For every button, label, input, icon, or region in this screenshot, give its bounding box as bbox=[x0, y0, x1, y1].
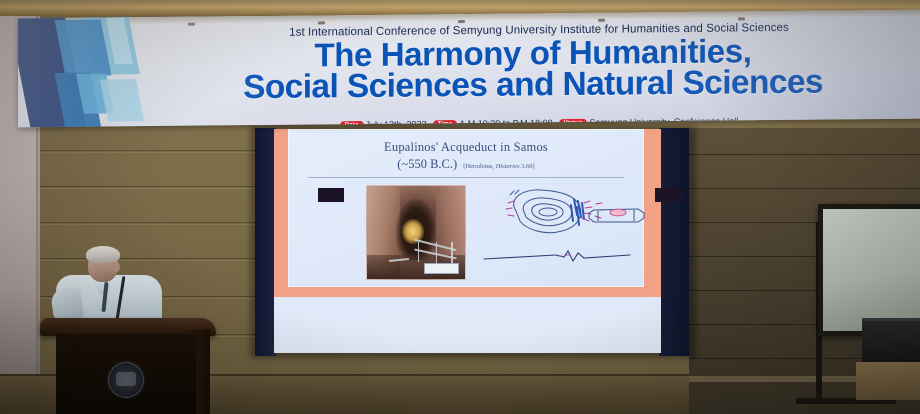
lecture-hall-photo: Eupalinos' Acqueduct in Samos (~550 B.C.… bbox=[0, 0, 920, 414]
speaker-hair bbox=[86, 246, 120, 263]
banner-title-line2: Social Sciences and Natural Sciences bbox=[138, 66, 920, 106]
av-cart-shelf bbox=[856, 362, 920, 400]
projection-screen: Eupalinos' Acqueduct in Samos (~550 B.C.… bbox=[274, 129, 661, 353]
presentation-slide: Eupalinos' Acqueduct in Samos (~550 B.C.… bbox=[288, 129, 644, 287]
slide-citation: [Herodotus, Histories 3.60] bbox=[463, 163, 535, 170]
speaker-ear bbox=[113, 262, 120, 272]
tunnel-photograph bbox=[366, 185, 466, 280]
slide-year: (~550 B.C.) bbox=[397, 157, 457, 171]
contour-map-sketch bbox=[478, 181, 638, 281]
speaker-arm bbox=[50, 286, 84, 322]
ceiling-speaker-right bbox=[655, 188, 681, 202]
whiteboard-on-stand bbox=[818, 204, 920, 336]
slide-divider bbox=[308, 177, 624, 178]
photo-caption-label bbox=[424, 263, 459, 273]
conference-banner: 1st International Conference of Semyung … bbox=[18, 10, 920, 128]
av-equipment-cart bbox=[862, 318, 920, 365]
tunnel-cylinder-sketch bbox=[588, 207, 646, 224]
banner-title: The Harmony of Humanities, Social Scienc… bbox=[138, 34, 920, 106]
slide-title: Eupalinos' Acqueduct in Samos bbox=[288, 140, 644, 155]
slide-subtitle: (~550 B.C.)[Herodotus, Histories 3.60] bbox=[288, 157, 644, 172]
screen-frame-right bbox=[659, 128, 689, 356]
screen-frame-left bbox=[255, 128, 276, 356]
university-seal bbox=[108, 362, 144, 398]
ceiling-speaker-left bbox=[318, 188, 344, 202]
